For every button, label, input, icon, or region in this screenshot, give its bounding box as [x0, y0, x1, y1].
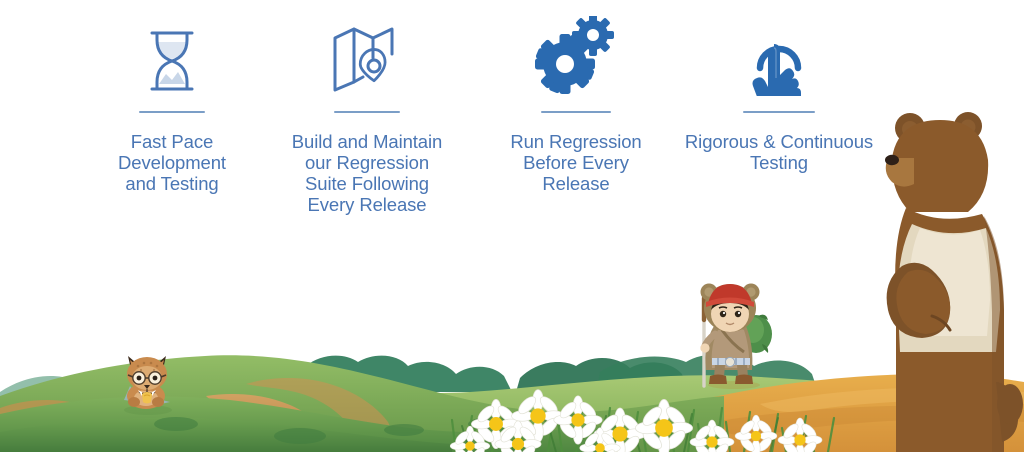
- gears-icon: [535, 16, 617, 96]
- feature-divider: [139, 111, 205, 113]
- feature-divider: [743, 111, 815, 113]
- feature-divider: [541, 111, 611, 113]
- feature-label: Run Regression Before Every Release: [486, 131, 666, 194]
- feature-label: Rigorous & Continuous Testing: [668, 131, 890, 173]
- tap-gesture-icon: [748, 24, 810, 96]
- map-pin-icon: [330, 24, 404, 96]
- feature-build-maintain-regression-suite[interactable]: Build and Maintain our Regression Suite …: [272, 18, 462, 215]
- lynx-character: [108, 340, 186, 418]
- codey-character: [872, 104, 1024, 452]
- feature-rigorous-continuous-testing[interactable]: Rigorous & Continuous Testing: [668, 18, 890, 173]
- feature-fast-pace-development[interactable]: Fast Pace Development and Testing: [88, 18, 256, 194]
- astro-character: [682, 272, 780, 390]
- hourglass-icon: [144, 26, 200, 96]
- gears-icon-wrap: [486, 18, 666, 96]
- tap-gesture-icon-wrap: [668, 18, 890, 96]
- feature-label: Fast Pace Development and Testing: [88, 131, 256, 194]
- hourglass-icon-wrap: [88, 18, 256, 96]
- map-pin-icon-wrap: [272, 18, 462, 96]
- feature-run-regression-before-release[interactable]: Run Regression Before Every Release: [486, 18, 666, 194]
- feature-divider: [334, 111, 400, 113]
- feature-label: Build and Maintain our Regression Suite …: [272, 131, 462, 215]
- slide-root: Fast Pace Development and Testing Build: [0, 0, 1024, 452]
